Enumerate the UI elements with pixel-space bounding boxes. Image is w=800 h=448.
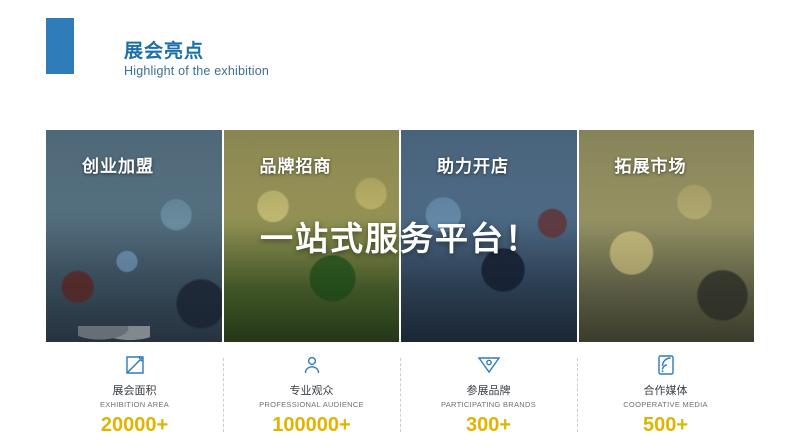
stat-label-zh: 专业观众 <box>223 382 400 398</box>
photo-caption: 创业加盟 <box>82 152 154 177</box>
stat-label-en: COOPERATIVE MEDIA <box>577 400 754 409</box>
stat-label-zh: 展会面积 <box>46 382 223 398</box>
stat-label-en: PARTICIPATING BRANDS <box>400 400 577 409</box>
stat-item-cooperative-media: 合作媒体 COOPERATIVE MEDIA 500+ <box>577 352 754 444</box>
area-icon <box>46 352 223 378</box>
photo-caption: 助力开店 <box>437 152 509 177</box>
stat-label-en: EXHIBITION AREA <box>46 400 223 409</box>
photo-cell: 拓展市场 <box>579 130 755 342</box>
stat-value: 20000+ <box>46 414 223 437</box>
photo-cell: 品牌招商 <box>224 130 400 342</box>
page-title-en: Highlight of the exhibition <box>124 64 269 78</box>
media-icon <box>577 352 754 378</box>
stat-value: 500+ <box>577 414 754 437</box>
photo-cell: 创业加盟 <box>46 130 222 342</box>
stats-row: 展会面积 EXHIBITION AREA 20000+ 专业观众 PROFESS… <box>46 352 754 444</box>
photo-cell: 助力开店 <box>401 130 577 342</box>
stat-item-participating-brands: 参展品牌 PARTICIPATING BRANDS 300+ <box>400 352 577 444</box>
foreground-person-silhouette <box>78 326 150 348</box>
audience-icon <box>223 352 400 378</box>
photo-caption: 拓展市场 <box>615 152 687 177</box>
brand-icon <box>400 352 577 378</box>
slide-header: 展会亮点 Highlight of the exhibition <box>0 0 800 110</box>
stat-label-en: PROFESSIONAL AUDIENCE <box>223 400 400 409</box>
stat-value: 100000+ <box>223 414 400 437</box>
stat-item-professional-audience: 专业观众 PROFESSIONAL AUDIENCE 100000+ <box>223 352 400 444</box>
stat-label-zh: 参展品牌 <box>400 382 577 398</box>
page-title-zh: 展会亮点 <box>124 36 204 63</box>
stat-value: 300+ <box>400 414 577 437</box>
stat-label-zh: 合作媒体 <box>577 382 754 398</box>
accent-bar <box>46 18 74 74</box>
photo-caption: 品牌招商 <box>260 152 332 177</box>
photo-strip: 创业加盟 品牌招商 助力开店 拓展市场 一站式服务平台！ <box>46 130 754 342</box>
slide-canvas: 展会亮点 Highlight of the exhibition 创业加盟 品牌… <box>0 0 800 448</box>
stat-item-exhibition-area: 展会面积 EXHIBITION AREA 20000+ <box>46 352 223 444</box>
